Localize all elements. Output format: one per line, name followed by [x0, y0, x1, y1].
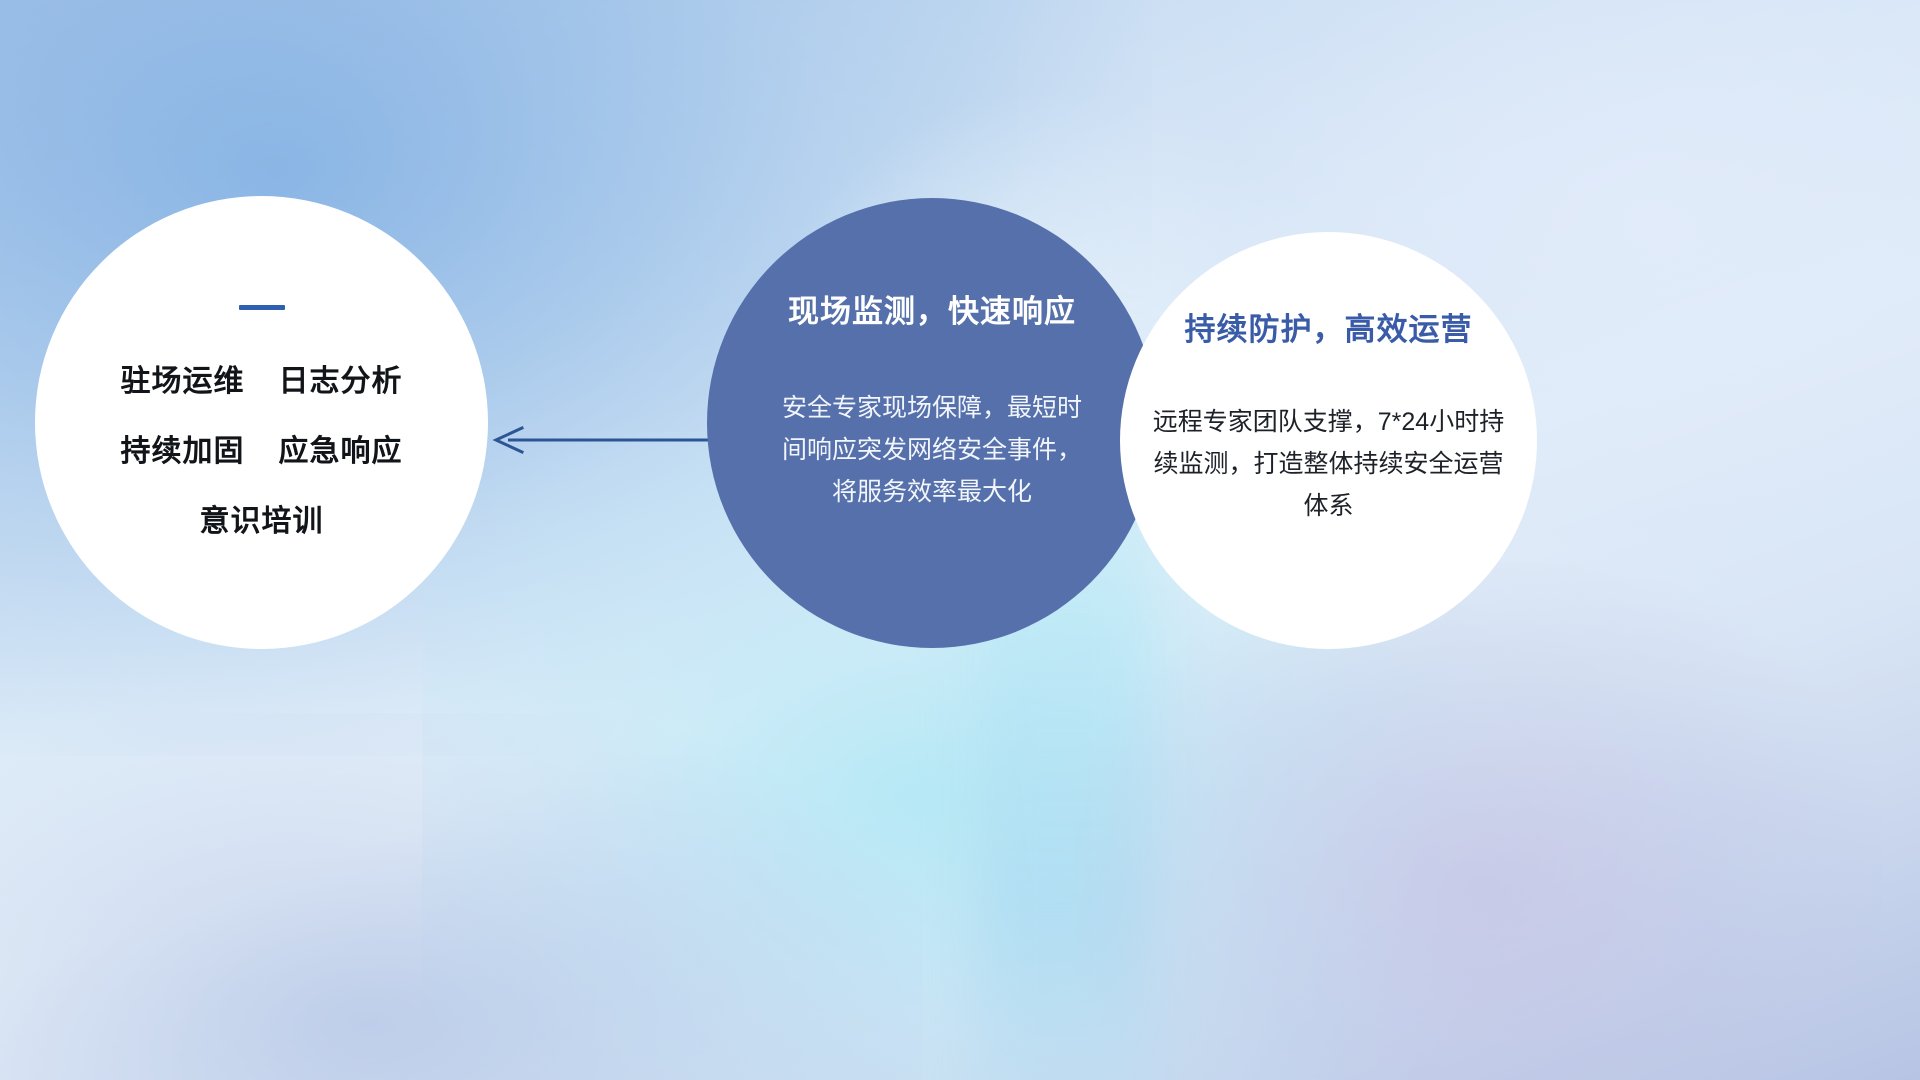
middle-onsite-circle[interactable]: 现场监测，快速响应 安全专家现场保障，最短时间响应突发网络安全事件，将服务效率最…: [707, 198, 1157, 648]
right-operations-circle[interactable]: 持续防护，高效运营 远程专家团队支撑，7*24小时持续监测，打造整体持续安全运营…: [1120, 232, 1537, 649]
capability-label: 应急响应: [279, 426, 403, 470]
capability-list: 驻场运维 日志分析 持续加固 应急响应 意识培训: [121, 356, 403, 540]
capability-label: 意识培训: [200, 496, 324, 540]
list-item: 驻场运维 日志分析: [121, 356, 403, 400]
capability-label: 日志分析: [279, 356, 403, 400]
middle-circle-title: 现场监测，快速响应: [788, 286, 1076, 331]
capability-label: 持续加固: [121, 426, 245, 470]
accent-dash-icon: [239, 305, 285, 310]
left-capability-circle[interactable]: 驻场运维 日志分析 持续加固 应急响应 意识培训: [35, 196, 488, 649]
list-item: 意识培训: [200, 496, 324, 540]
background-glow-bottom-right: [1075, 562, 1881, 1080]
middle-circle-body: 安全专家现场保障，最短时间响应突发网络安全事件，将服务效率最大化: [782, 387, 1082, 513]
capability-label: 驻场运维: [121, 356, 245, 400]
arrow-left-icon: [486, 424, 711, 456]
background-glow-bottom-left: [0, 713, 922, 1080]
right-circle-title: 持续防护，高效运营: [1185, 304, 1473, 349]
list-item: 持续加固 应急响应: [121, 426, 403, 470]
right-circle-body: 远程专家团队支撑，7*24小时持续监测，打造整体持续安全运营体系: [1149, 401, 1509, 527]
